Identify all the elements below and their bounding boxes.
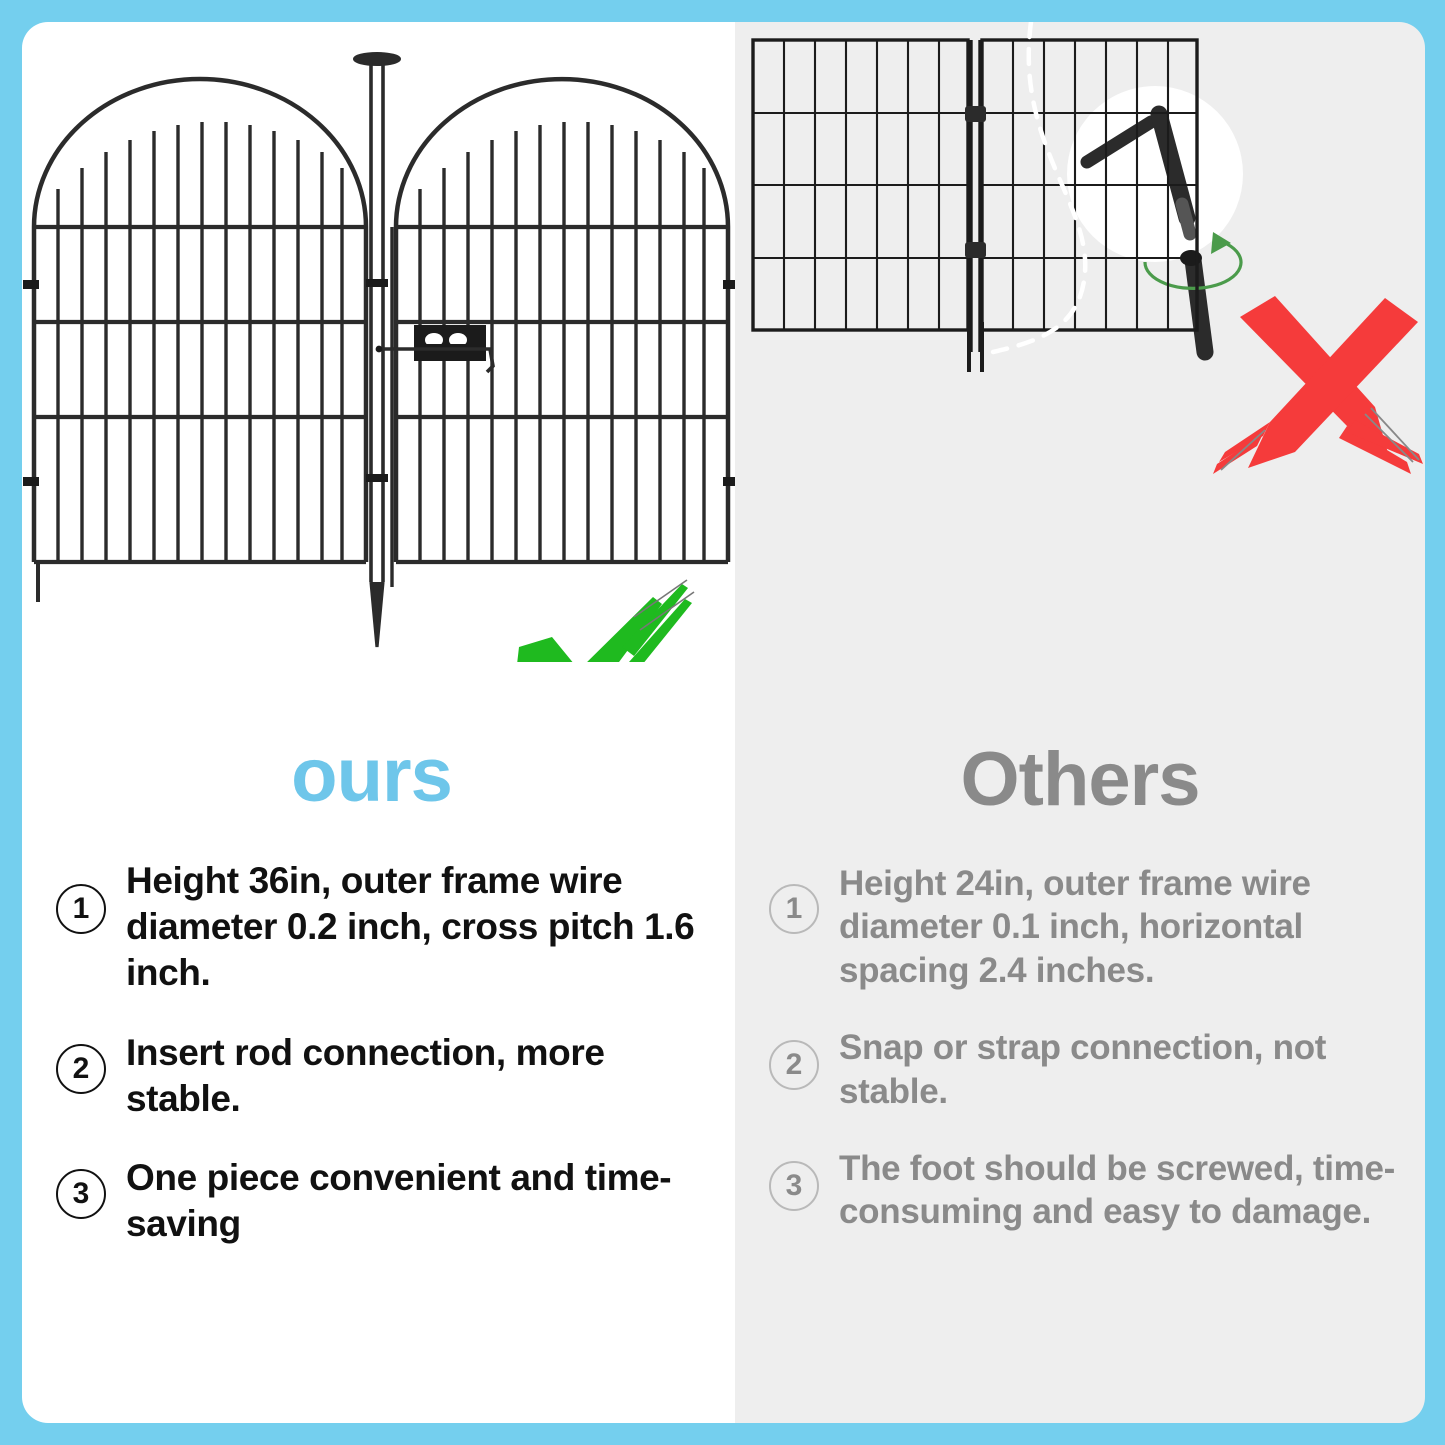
list-item-text: Height 36in, outer frame wire diameter 0… bbox=[126, 858, 719, 996]
others-feature-list: 1 Height 24in, outer frame wire diameter… bbox=[735, 862, 1425, 1234]
list-item: 1 Height 24in, outer frame wire diameter… bbox=[769, 862, 1399, 992]
list-item-number: 2 bbox=[56, 1044, 106, 1094]
green-check-mark bbox=[515, 580, 694, 662]
list-item-text: Insert rod connection, more stable. bbox=[126, 1030, 719, 1122]
others-illustration bbox=[735, 22, 1425, 662]
list-item-text: Height 24in, outer frame wire diameter 0… bbox=[839, 862, 1399, 992]
ours-title: ours bbox=[22, 738, 735, 814]
ours-feature-list: 1 Height 36in, outer frame wire diameter… bbox=[22, 858, 735, 1247]
list-item-number: 1 bbox=[769, 884, 819, 934]
ours-fence-drawing bbox=[22, 22, 735, 662]
others-right-grid-panel bbox=[982, 40, 1197, 330]
others-left-grid-panel bbox=[753, 40, 968, 330]
others-title: Others bbox=[735, 742, 1425, 818]
rotation-arrow-head-icon bbox=[1211, 232, 1231, 254]
ours-illustration bbox=[22, 22, 735, 662]
list-item: 3 The foot should be screwed, time-consu… bbox=[769, 1147, 1399, 1234]
list-item-number: 3 bbox=[56, 1169, 106, 1219]
others-fence-drawing bbox=[735, 22, 1425, 662]
list-item-number: 3 bbox=[769, 1161, 819, 1211]
ours-panel: ours 1 Height 36in, outer frame wire dia… bbox=[22, 22, 735, 1423]
list-item-text: Snap or strap connection, not stable. bbox=[839, 1026, 1399, 1113]
ours-right-arch-panel bbox=[396, 79, 735, 562]
list-item: 1 Height 36in, outer frame wire diameter… bbox=[56, 858, 719, 996]
list-item-number: 1 bbox=[56, 884, 106, 934]
list-item: 3 One piece convenient and time-saving bbox=[56, 1155, 719, 1247]
comparison-infographic: ours 1 Height 36in, outer frame wire dia… bbox=[0, 0, 1445, 1445]
ours-left-arch-panel bbox=[23, 79, 366, 602]
ours-edge-tab bbox=[23, 280, 39, 486]
others-panel: Others 1 Height 24in, outer frame wire d… bbox=[735, 22, 1425, 1423]
red-cross-mark bbox=[1213, 296, 1423, 474]
list-item-number: 2 bbox=[769, 1040, 819, 1090]
list-item: 2 Snap or strap connection, not stable. bbox=[769, 1026, 1399, 1113]
list-item-text: One piece convenient and time-saving bbox=[126, 1155, 719, 1247]
list-item: 2 Insert rod connection, more stable. bbox=[56, 1030, 719, 1122]
screw-in-foot-detail-inset bbox=[1067, 86, 1243, 352]
list-item-text: The foot should be screwed, time-consumi… bbox=[839, 1147, 1399, 1234]
